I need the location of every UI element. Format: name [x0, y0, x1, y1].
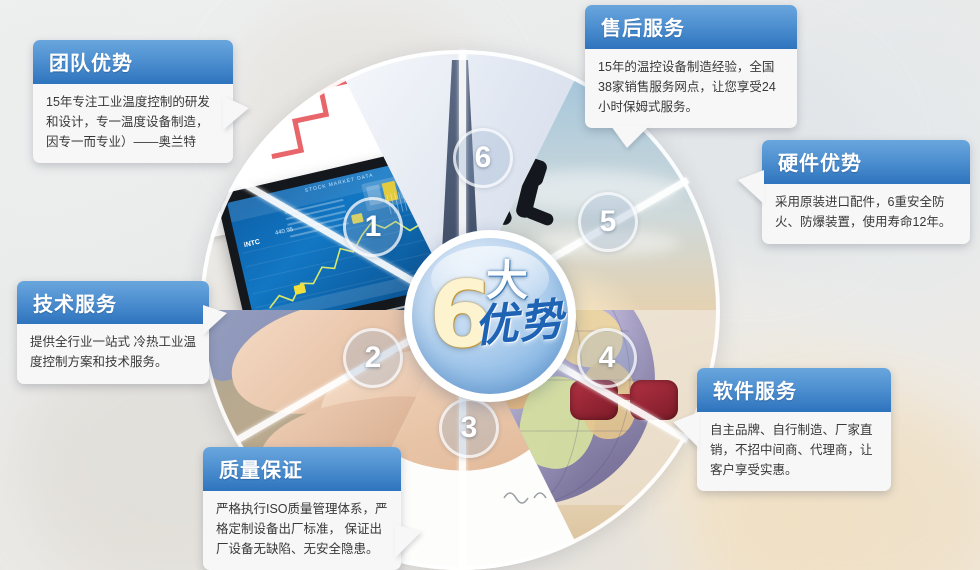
callout-card-team[interactable]: 团队优势 15年专注工业温度控制的研发和设计，专一温度设备制造，因专一而专业）—…	[33, 40, 233, 163]
callout-body-quality: 严格执行ISO质量管理体系，严格定制设备出厂标准， 保证出厂设备无缺陷、无安全隐…	[203, 491, 401, 570]
callout-body-technical: 提供全行业一站式 冷热工业温度控制方案和技术服务。	[17, 324, 209, 384]
callout-tail	[611, 126, 649, 148]
callout-body-after-sales: 15年的温控设备制造经验，全国38家销售服务网点，让您享受24小时保姆式服务。	[585, 49, 797, 128]
callout-tail	[395, 524, 421, 558]
callout-body-hardware: 采用原装进口配件，6重安全防火、防爆装置，使用寿命12年。	[762, 184, 970, 244]
center-badge-inner: 6 大 优势	[412, 238, 568, 394]
callout-title-after-sales: 售后服务	[585, 5, 797, 49]
red-sunglasses	[570, 380, 680, 426]
badge-word: 优势	[472, 297, 566, 351]
marker-4[interactable]: 4	[577, 328, 637, 388]
callout-tail	[223, 96, 249, 130]
marker-2[interactable]: 2	[343, 328, 403, 388]
callout-title-software: 软件服务	[697, 368, 891, 412]
center-badge[interactable]: 6 大 优势	[404, 230, 576, 402]
marker-5[interactable]: 5	[578, 192, 638, 252]
callout-body-team: 15年专注工业温度控制的研发和设计，专一温度设备制造，因专一而专业）——奥兰特	[33, 84, 233, 163]
callout-tail	[738, 170, 764, 204]
marker-3[interactable]: 3	[439, 398, 499, 458]
callout-title-hardware: 硬件优势	[762, 140, 970, 184]
callout-card-hardware[interactable]: 硬件优势 采用原装进口配件，6重安全防火、防爆装置，使用寿命12年。	[762, 140, 970, 244]
callout-tail	[673, 412, 699, 448]
callout-tail	[203, 305, 227, 335]
callout-body-software: 自主品牌、自行制造、厂家直销，不招中间商、代理商，让客户享受实惠。	[697, 412, 891, 491]
marker-6[interactable]: 6	[453, 128, 513, 188]
marker-1[interactable]: 1	[343, 197, 403, 257]
callout-card-software[interactable]: 软件服务 自主品牌、自行制造、厂家直销，不招中间商、代理商，让客户享受实惠。	[697, 368, 891, 491]
callout-title-team: 团队优势	[33, 40, 233, 84]
callout-card-after-sales[interactable]: 售后服务 15年的温控设备制造经验，全国38家销售服务网点，让您享受24小时保姆…	[585, 5, 797, 128]
callout-title-technical: 技术服务	[17, 281, 209, 324]
poster-canvas: STOCK MARKET DATA iNTC 440.95	[0, 0, 980, 570]
callout-card-technical[interactable]: 技术服务 提供全行业一站式 冷热工业温度控制方案和技术服务。	[17, 281, 209, 384]
callout-card-quality[interactable]: 质量保证 严格执行ISO质量管理体系，严格定制设备出厂标准， 保证出厂设备无缺陷…	[203, 447, 401, 570]
badge-unit: 大	[486, 260, 528, 302]
callout-title-quality: 质量保证	[203, 447, 401, 491]
